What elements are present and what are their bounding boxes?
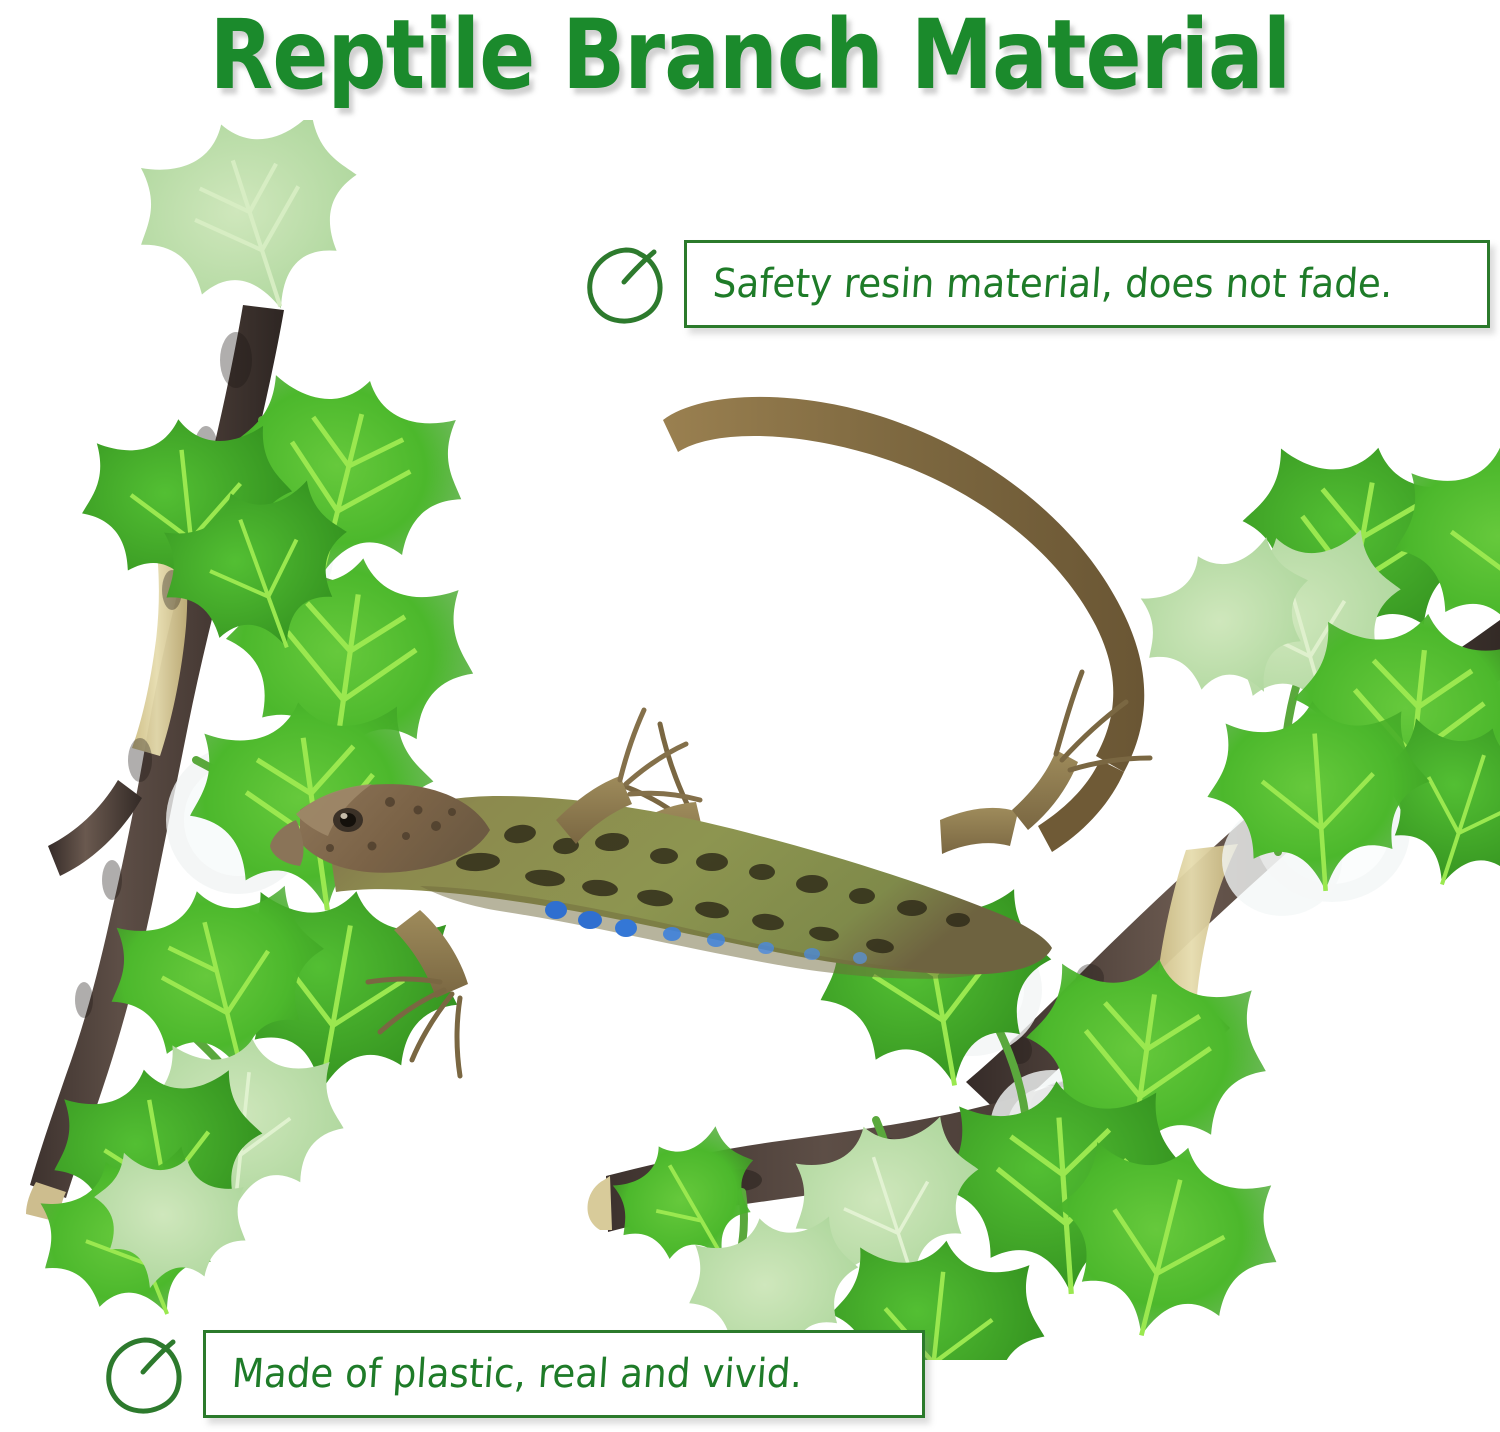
callout-box: Made of plastic, real and vivid. [203, 1330, 925, 1418]
product-image: Reptile Branch Material [0, 0, 1500, 1432]
callout-safety-resin: Safety resin material, does not fade. [584, 238, 1490, 330]
callout-text: Made of plastic, real and vivid. [231, 1351, 804, 1397]
leaf-icon [584, 240, 668, 328]
ivy-leaf-group-right [1119, 427, 1500, 914]
ivy-leaf-group-upper-left [73, 120, 487, 787]
callout-box: Safety resin material, does not fade. [684, 240, 1490, 328]
page-title: Reptile Branch Material [105, 4, 1395, 108]
ivy-leaf [1386, 435, 1500, 655]
leaf-icon [103, 1330, 187, 1418]
callout-made-of-plastic: Made of plastic, real and vivid. [103, 1328, 939, 1420]
callout-text: Safety resin material, does not fade. [712, 261, 1395, 307]
